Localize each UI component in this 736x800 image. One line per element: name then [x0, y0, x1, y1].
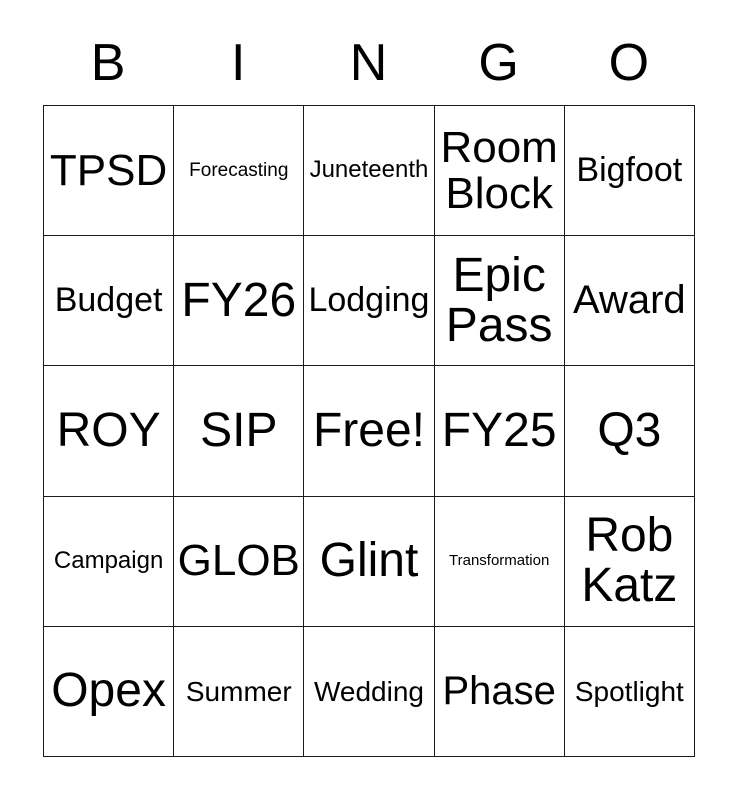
- bingo-cell-label: GLOB: [176, 538, 301, 584]
- bingo-cell[interactable]: Lodging: [304, 236, 434, 366]
- bingo-cell-label: Bigfoot: [567, 153, 692, 188]
- bingo-cell[interactable]: SIP: [174, 366, 304, 496]
- bingo-cell[interactable]: Room Block: [435, 106, 565, 236]
- bingo-cell[interactable]: FY26: [174, 236, 304, 366]
- bingo-cell[interactable]: Rob Katz: [565, 497, 695, 627]
- bingo-cell[interactable]: Glint: [304, 497, 434, 627]
- bingo-row: Budget FY26 Lodging Epic Pass Award: [44, 236, 695, 366]
- bingo-cell-label: Forecasting: [176, 161, 301, 181]
- bingo-cell-label: FY26: [176, 276, 301, 326]
- bingo-cell-label: FY25: [437, 406, 562, 456]
- bingo-cell[interactable]: Epic Pass: [435, 236, 565, 366]
- bingo-cell[interactable]: Forecasting: [174, 106, 304, 236]
- bingo-cell[interactable]: Wedding: [304, 627, 434, 757]
- bingo-card: B I N G O TPSD Forecasting Juneteenth Ro…: [43, 20, 694, 757]
- bingo-cell-label: Budget: [46, 283, 171, 318]
- bingo-cell-label: Free!: [306, 406, 431, 456]
- bingo-cell-label: Spotlight: [567, 677, 692, 706]
- bingo-header: B I N G O: [43, 20, 694, 105]
- header-letter-g: G: [434, 20, 564, 105]
- bingo-cell[interactable]: GLOB: [174, 497, 304, 627]
- bingo-cell[interactable]: Q3: [565, 366, 695, 496]
- bingo-cell-label: Epic Pass: [437, 251, 562, 351]
- bingo-cell-label: Summer: [176, 677, 301, 706]
- bingo-cell[interactable]: Budget: [44, 236, 174, 366]
- bingo-cell-label: Glint: [306, 536, 431, 586]
- bingo-cell-label: ROY: [46, 406, 171, 456]
- bingo-row: Opex Summer Wedding Phase Spotlight: [44, 627, 695, 757]
- bingo-cell-label: Rob Katz: [567, 511, 692, 611]
- header-letter-b: B: [43, 20, 173, 105]
- bingo-cell[interactable]: Juneteenth: [304, 106, 434, 236]
- bingo-cell-label: Transformation: [437, 553, 562, 569]
- bingo-cell-free[interactable]: Free!: [304, 366, 434, 496]
- bingo-cell-label: TPSD: [46, 148, 171, 194]
- bingo-cell-label: Q3: [567, 406, 692, 456]
- bingo-cell[interactable]: Award: [565, 236, 695, 366]
- bingo-row: Campaign GLOB Glint Transformation Rob K…: [44, 497, 695, 627]
- bingo-cell[interactable]: FY25: [435, 366, 565, 496]
- bingo-cell-label: Room Block: [437, 125, 562, 217]
- bingo-grid: TPSD Forecasting Juneteenth Room Block B…: [43, 105, 695, 757]
- bingo-cell[interactable]: TPSD: [44, 106, 174, 236]
- bingo-cell[interactable]: ROY: [44, 366, 174, 496]
- bingo-row: TPSD Forecasting Juneteenth Room Block B…: [44, 106, 695, 236]
- header-letter-n: N: [303, 20, 433, 105]
- bingo-cell-label: Wedding: [306, 677, 431, 706]
- bingo-cell-label: Juneteenth: [306, 158, 431, 183]
- bingo-cell-label: Phase: [437, 671, 562, 713]
- header-letter-i: I: [173, 20, 303, 105]
- header-letter-o: O: [564, 20, 694, 105]
- bingo-cell[interactable]: Campaign: [44, 497, 174, 627]
- bingo-cell[interactable]: Transformation: [435, 497, 565, 627]
- bingo-cell[interactable]: Spotlight: [565, 627, 695, 757]
- bingo-cell[interactable]: Summer: [174, 627, 304, 757]
- bingo-cell[interactable]: Phase: [435, 627, 565, 757]
- bingo-cell-label: Lodging: [306, 283, 431, 318]
- bingo-cell[interactable]: Bigfoot: [565, 106, 695, 236]
- bingo-cell[interactable]: Opex: [44, 627, 174, 757]
- bingo-cell-label: Award: [567, 280, 692, 322]
- bingo-cell-label: SIP: [176, 406, 301, 456]
- bingo-cell-label: Opex: [46, 666, 171, 716]
- bingo-cell-label: Campaign: [46, 549, 171, 574]
- bingo-row: ROY SIP Free! FY25 Q3: [44, 366, 695, 496]
